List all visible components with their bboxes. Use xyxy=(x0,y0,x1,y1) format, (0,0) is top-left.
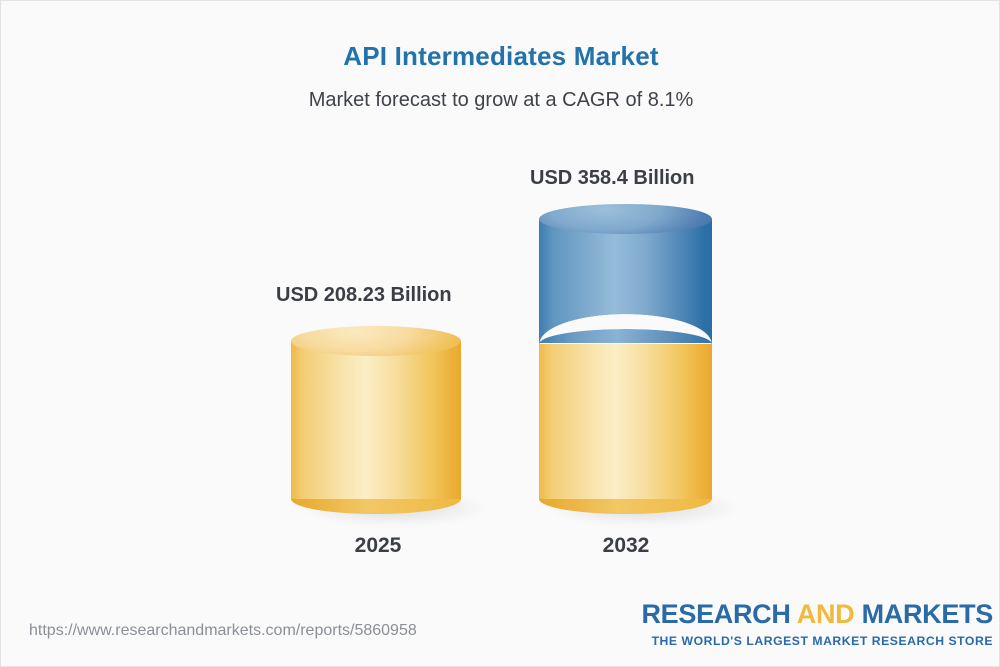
chart-subtitle: Market forecast to grow at a CAGR of 8.1… xyxy=(1,89,1000,112)
bar-2025 xyxy=(291,326,461,516)
bar-2032-upper-segment xyxy=(539,219,712,344)
logo-tagline: THE WORLD'S LARGEST MARKET RESEARCH STOR… xyxy=(641,635,993,647)
bar-2032-segment-divider xyxy=(539,329,712,359)
research-and-markets-logo[interactable]: RESEARCH AND MARKETS THE WORLD'S LARGEST… xyxy=(641,601,993,647)
bar-2025-category-label: 2025 xyxy=(296,534,460,558)
logo-word-markets: MARKETS xyxy=(862,599,993,629)
bar-2032-category-label: 2032 xyxy=(544,534,708,558)
logo-wordmark: RESEARCH AND MARKETS xyxy=(641,601,993,628)
bar-2032 xyxy=(539,204,712,516)
chart-canvas: API Intermediates Market Market forecast… xyxy=(0,0,1000,667)
bar-2032-lower-segment xyxy=(539,344,712,499)
bar-2025-body xyxy=(291,341,461,499)
bar-2025-top-cap xyxy=(291,326,461,356)
report-url[interactable]: https://www.researchandmarkets.com/repor… xyxy=(29,622,417,640)
bar-2025-value-label: USD 208.23 Billion xyxy=(276,284,452,307)
chart-title: API Intermediates Market xyxy=(1,41,1000,72)
logo-word-research: RESEARCH xyxy=(641,599,790,629)
logo-word-and: AND xyxy=(797,599,855,629)
bar-2032-top-cap xyxy=(539,204,712,234)
bar-2032-value-label: USD 358.4 Billion xyxy=(530,167,695,190)
